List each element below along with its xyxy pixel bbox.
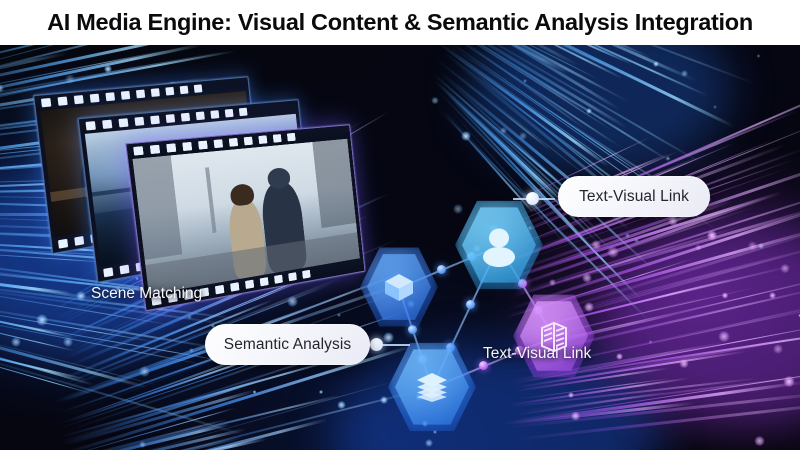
label-scene-matching: Scene Matching [91,285,202,303]
cube-icon [379,267,419,307]
connector-dot-semantic [370,338,383,351]
user-icon [477,223,521,267]
database-icon [410,365,454,409]
pill-text-visual-link[interactable]: Text-Visual Link [558,176,710,217]
connector-dot-text-visual [526,192,539,205]
node-documents[interactable] [513,292,595,380]
node-database[interactable] [388,340,476,434]
diagram-page: AI Media Engine: Visual Content & Semant… [0,0,800,450]
pill-label: Semantic Analysis [224,336,351,354]
graph-junction-dot [466,300,475,309]
film-frame-3 [125,124,365,311]
header-bar: AI Media Engine: Visual Content & Semant… [0,0,800,45]
pill-label: Text-Visual Link [579,188,689,206]
page-title: AI Media Engine: Visual Content & Semant… [47,9,753,36]
illustration-canvas: Text-Visual Link Semantic Analysis Scene… [0,45,800,450]
pill-semantic-analysis[interactable]: Semantic Analysis [205,324,370,365]
node-cube[interactable] [360,245,438,329]
node-user[interactable] [455,198,543,292]
documents-icon [533,315,575,357]
